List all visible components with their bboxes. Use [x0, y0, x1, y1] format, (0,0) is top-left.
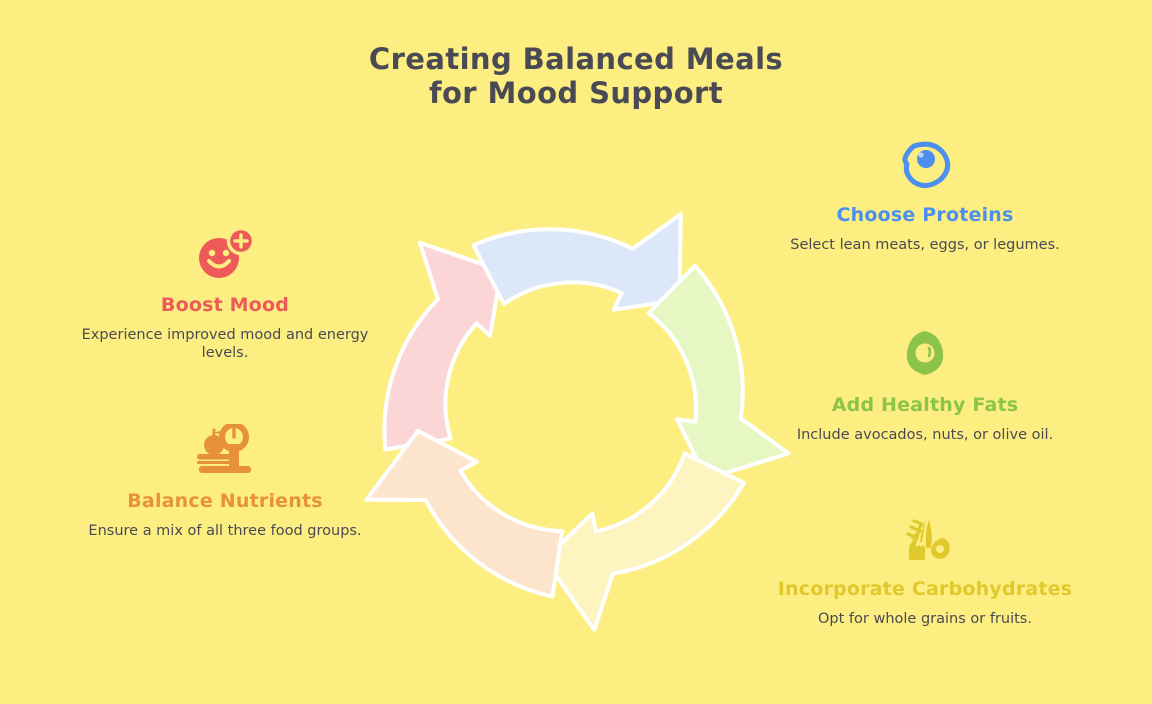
feature-title-choose-proteins: Choose Proteins	[775, 204, 1075, 227]
feature-desc-balance-nutrients: Ensure a mix of all three food groups.	[75, 522, 375, 540]
feature-balance-nutrients[interactable]: Balance Nutrients Ensure a mix of all th…	[75, 424, 375, 540]
feature-choose-proteins[interactable]: Choose Proteins Select lean meats, eggs,…	[775, 138, 1075, 254]
feature-title-add-healthy-fats: Add Healthy Fats	[775, 394, 1075, 417]
feature-incorporate-carbohydrates[interactable]: Incorporate Carbohydrates Opt for whole …	[775, 512, 1075, 628]
infographic-canvas: Creating Balanced Meals for Mood Support	[0, 0, 1152, 704]
weighing-scale-apple-icon	[75, 424, 375, 482]
avocado-icon	[775, 328, 1075, 386]
page-title-line-2: for Mood Support	[0, 76, 1152, 110]
cycle-diagram	[330, 168, 810, 648]
feature-title-balance-nutrients: Balance Nutrients	[75, 490, 375, 513]
feature-boost-mood[interactable]: Boost Mood Experience improved mood and …	[75, 228, 375, 362]
feature-desc-boost-mood: Experience improved mood and energy leve…	[75, 326, 375, 362]
feature-desc-add-healthy-fats: Include avocados, nuts, or olive oil.	[775, 426, 1075, 444]
wheat-grain-icon	[775, 512, 1075, 570]
feature-title-boost-mood: Boost Mood	[75, 294, 375, 317]
page-title: Creating Balanced Meals for Mood Support	[0, 42, 1152, 110]
feature-title-incorporate-carbohydrates: Incorporate Carbohydrates	[775, 578, 1075, 601]
feature-desc-incorporate-carbohydrates: Opt for whole grains or fruits.	[775, 610, 1075, 628]
smiley-plus-icon	[75, 228, 375, 286]
fried-egg-icon	[775, 138, 1075, 196]
feature-desc-choose-proteins: Select lean meats, eggs, or legumes.	[775, 236, 1075, 254]
feature-add-healthy-fats[interactable]: Add Healthy Fats Include avocados, nuts,…	[775, 328, 1075, 444]
page-title-line-1: Creating Balanced Meals	[0, 42, 1152, 76]
